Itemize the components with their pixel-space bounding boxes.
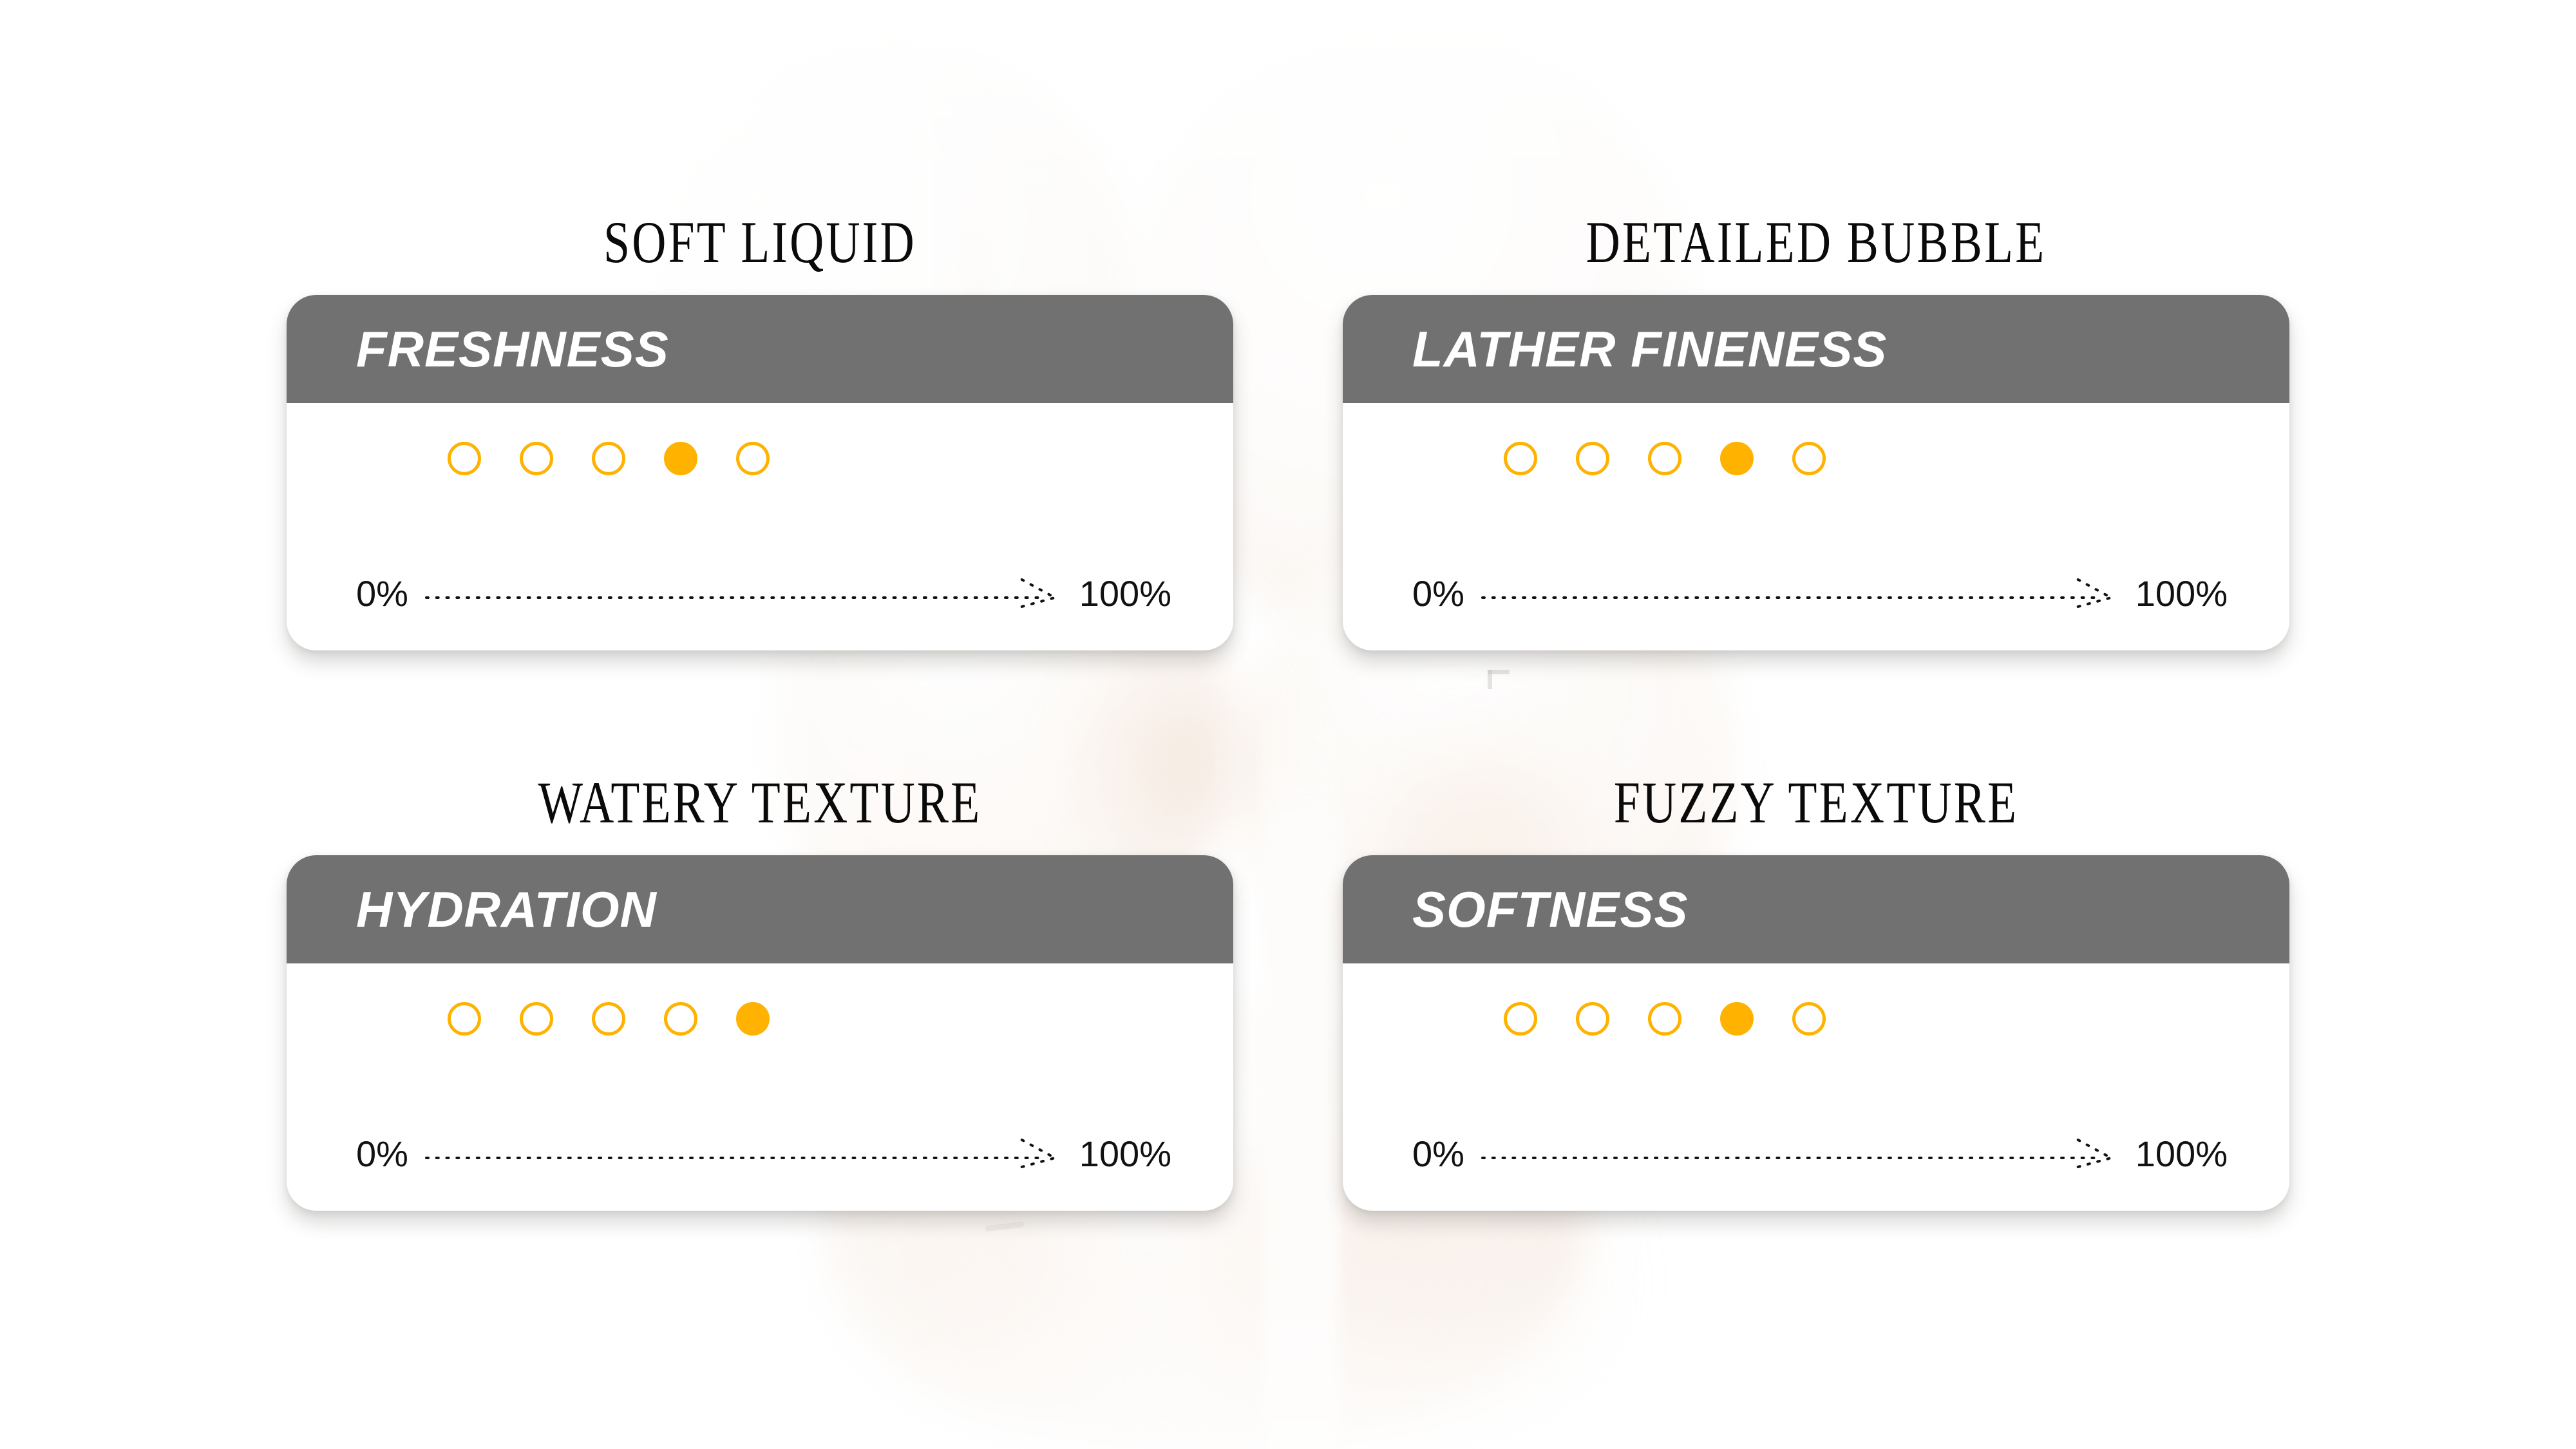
card-title-fuzzy-texture: FUZZY TEXTURE [1437, 773, 2195, 832]
dotted-arrow-right-icon [426, 1136, 1061, 1172]
scale-min-label: 0% [356, 1136, 408, 1172]
dotted-arrow-right-icon [1482, 576, 2117, 612]
rating-dot-2[interactable] [1576, 1002, 1609, 1036]
rating-dot-5[interactable] [736, 442, 770, 475]
dotted-arrow-right-icon [426, 576, 1061, 612]
card-header-detailed-bubble: LATHER FINENESS [1343, 295, 2289, 403]
rating-dot-3[interactable] [1648, 442, 1681, 475]
scale-row-lather-fineness: 0% 100% [1412, 576, 2228, 612]
metric-card-fuzzy-texture[interactable]: SOFTNESS 0% [1343, 855, 2289, 1211]
metric-card-grid: SOFT LIQUID FRESHNESS 0% [0, 0, 2576, 1449]
rating-dots-softness[interactable] [1504, 1002, 1826, 1036]
scale-min-label: 0% [356, 576, 408, 612]
metric-label-softness: SOFTNESS [1412, 884, 1688, 934]
rating-dots-hydration[interactable] [448, 1002, 770, 1036]
scale-row-hydration: 0% 100% [356, 1136, 1171, 1172]
metric-unit-fuzzy-texture: FUZZY TEXTURE SOFTNESS 0% [1343, 773, 2289, 1211]
metric-card-watery-texture[interactable]: HYDRATION 0% [287, 855, 1233, 1211]
dotted-arrow-right-icon [1482, 1136, 2117, 1172]
scale-track [1482, 576, 2117, 612]
metric-unit-watery-texture: WATERY TEXTURE HYDRATION 0% [287, 773, 1233, 1211]
rating-dot-4-selected[interactable] [1720, 1002, 1754, 1036]
card-header-fuzzy-texture: SOFTNESS [1343, 855, 2289, 963]
card-header-watery-texture: HYDRATION [287, 855, 1233, 963]
metric-label-lather-fineness: LATHER FINENESS [1412, 324, 1887, 374]
rating-dots-lather-fineness[interactable] [1504, 442, 1826, 475]
rating-dot-3[interactable] [592, 1002, 625, 1036]
rating-dot-1[interactable] [1504, 442, 1537, 475]
card-body-fuzzy-texture: 0% 100% [1343, 963, 2289, 1211]
card-header-soft-liquid: FRESHNESS [287, 295, 1233, 403]
card-body-soft-liquid: 0% 100% [287, 403, 1233, 650]
scale-min-label: 0% [1412, 576, 1464, 612]
metric-label-freshness: FRESHNESS [356, 324, 669, 374]
metric-unit-soft-liquid: SOFT LIQUID FRESHNESS 0% [287, 213, 1233, 650]
scale-track [426, 1136, 1061, 1172]
rating-dot-1[interactable] [448, 1002, 481, 1036]
rating-dot-4-selected[interactable] [664, 442, 697, 475]
rating-dot-5[interactable] [1792, 1002, 1826, 1036]
scale-max-label: 100% [2136, 1136, 2228, 1172]
rating-dot-4-selected[interactable] [1720, 442, 1754, 475]
card-title-watery-texture: WATERY TEXTURE [381, 773, 1139, 832]
metric-label-hydration: HYDRATION [356, 884, 657, 934]
scale-track [426, 576, 1061, 612]
rating-dot-4[interactable] [664, 1002, 697, 1036]
rating-dot-3[interactable] [1648, 1002, 1681, 1036]
rating-dot-3[interactable] [592, 442, 625, 475]
rating-dot-1[interactable] [448, 442, 481, 475]
card-title-soft-liquid: SOFT LIQUID [381, 213, 1139, 272]
card-body-watery-texture: 0% 100% [287, 963, 1233, 1211]
scale-row-freshness: 0% 100% [356, 576, 1171, 612]
scale-min-label: 0% [1412, 1136, 1464, 1172]
rating-dots-freshness[interactable] [448, 442, 770, 475]
metric-card-detailed-bubble[interactable]: LATHER FINENESS 0% [1343, 295, 2289, 650]
scale-max-label: 100% [1079, 1136, 1171, 1172]
rating-dot-2[interactable] [520, 442, 553, 475]
rating-dot-1[interactable] [1504, 1002, 1537, 1036]
scale-row-softness: 0% 100% [1412, 1136, 2228, 1172]
rating-dot-2[interactable] [520, 1002, 553, 1036]
card-title-detailed-bubble: DETAILED BUBBLE [1437, 213, 2195, 272]
metric-card-soft-liquid[interactable]: FRESHNESS 0% [287, 295, 1233, 650]
scale-max-label: 100% [1079, 576, 1171, 612]
scale-max-label: 100% [2136, 576, 2228, 612]
metric-unit-detailed-bubble: DETAILED BUBBLE LATHER FINENESS 0% [1343, 213, 2289, 650]
rating-dot-5-selected[interactable] [736, 1002, 770, 1036]
rating-dot-2[interactable] [1576, 442, 1609, 475]
rating-dot-5[interactable] [1792, 442, 1826, 475]
card-body-detailed-bubble: 0% 100% [1343, 403, 2289, 650]
scale-track [1482, 1136, 2117, 1172]
